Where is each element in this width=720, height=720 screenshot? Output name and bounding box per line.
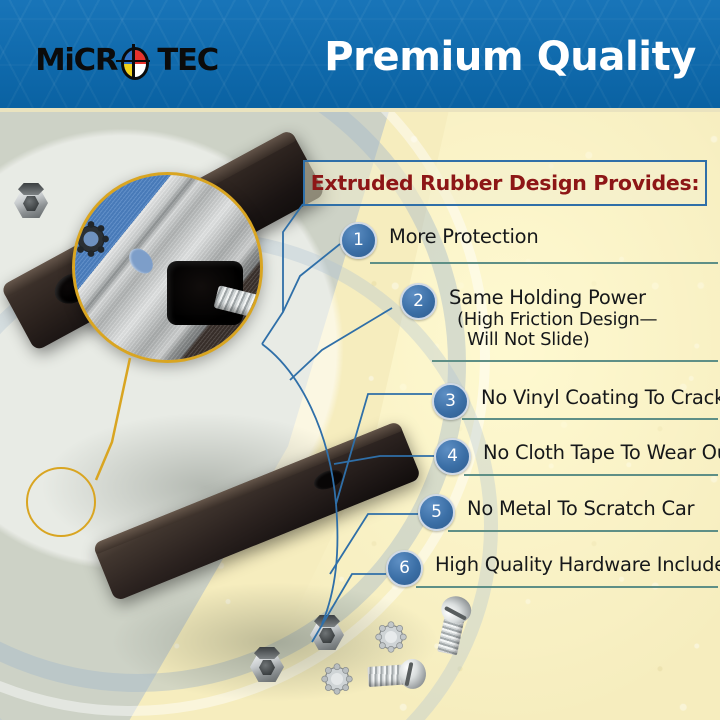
- list-item-2-label: Same Holding Power (High Friction Design…: [449, 283, 657, 351]
- badge-number-4: 4: [434, 438, 471, 475]
- list-item-6-label: High Quality Hardware Included: [435, 550, 720, 577]
- badge-number-5: 5: [418, 494, 455, 531]
- list-item-5-label: No Metal To Scratch Car: [467, 494, 694, 521]
- list-item-3: 3 No Vinyl Coating To Crack: [432, 383, 720, 420]
- list-item-3-label: No Vinyl Coating To Crack: [481, 383, 720, 410]
- list-item-4: 4 No Cloth Tape To Wear Out: [434, 438, 720, 475]
- list-item-4-label: No Cloth Tape To Wear Out: [483, 438, 720, 465]
- logo-text-micr: MiCR: [35, 46, 117, 76]
- list-item-5-underline: [448, 530, 718, 532]
- logo-text-tec: TEC: [158, 46, 219, 76]
- list-item-2-main: Same Holding Power: [449, 286, 646, 309]
- list-item-2-sub2: Will Not Slide): [467, 330, 657, 351]
- list-item-1: 1 More Protection: [340, 222, 538, 259]
- callout-title: Extruded Rubber Design Provides:: [311, 171, 700, 195]
- target-crosshair-horizontal: [116, 60, 150, 62]
- list-item-1-underline: [370, 262, 718, 264]
- list-item-1-label: More Protection: [389, 222, 538, 249]
- list-item-2-sub1: (High Friction Design—: [457, 310, 657, 331]
- crosshair-target-icon: [117, 45, 149, 77]
- badge-number-6: 6: [386, 550, 423, 587]
- list-item-2: 2 Same Holding Power (High Friction Desi…: [400, 283, 657, 351]
- list-item-6-underline: [416, 586, 718, 588]
- callout-title-box: Extruded Rubber Design Provides:: [303, 160, 707, 206]
- list-item-4-underline: [464, 474, 718, 476]
- infographic-canvas: MiCR TEC Premium Quality: [0, 0, 720, 720]
- list-item-3-underline: [462, 418, 718, 420]
- badge-number-2: 2: [400, 283, 437, 320]
- page-title: Premium Quality: [324, 34, 696, 80]
- badge-number-3: 3: [432, 383, 469, 420]
- list-item-6: 6 High Quality Hardware Included: [386, 550, 720, 587]
- micro-tec-logo: MiCR TEC: [36, 44, 218, 78]
- badge-number-1: 1: [340, 222, 377, 259]
- list-item-2-underline: [432, 360, 718, 362]
- list-item-5: 5 No Metal To Scratch Car: [418, 494, 694, 531]
